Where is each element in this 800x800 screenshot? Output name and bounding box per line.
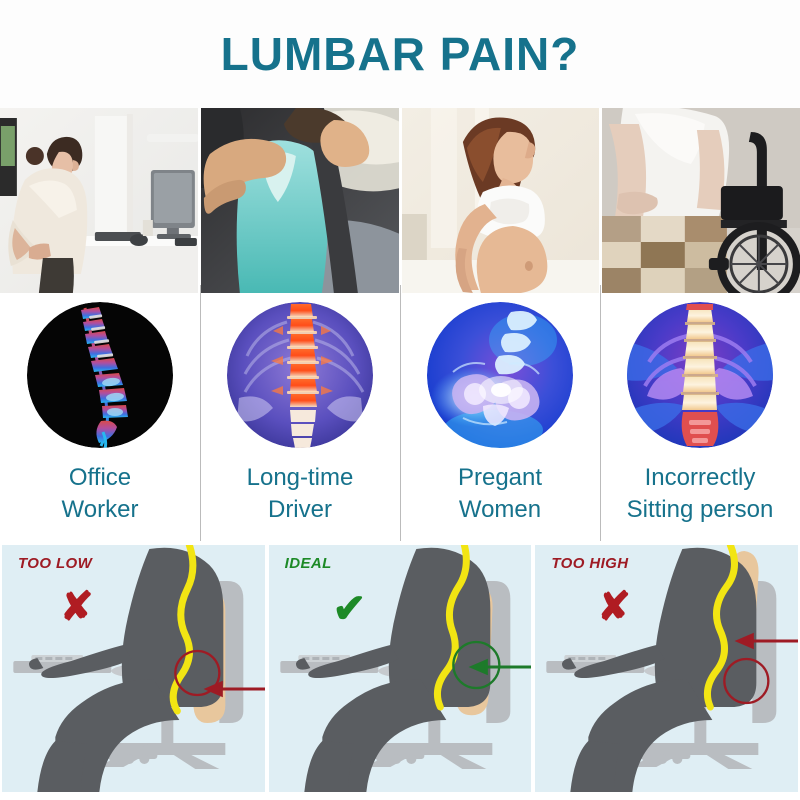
cause-item-office-worker[interactable]: Office Worker xyxy=(0,293,200,543)
office-worker-photo xyxy=(0,108,198,293)
pelvis-glow-xray-icon xyxy=(427,302,573,448)
cause-label-line2: Sitting person xyxy=(627,494,774,526)
cross-mark-icon: ✘ xyxy=(597,587,631,627)
long-time-driver-photo xyxy=(201,108,399,293)
posture-caption-too-high: TOO HIGH xyxy=(551,555,628,572)
wheelchair-person-photo xyxy=(602,108,800,293)
cause-label-line2: Women xyxy=(458,494,542,526)
photo-strip xyxy=(0,108,800,293)
cause-label-incorrectly-sitting-person: Incorrectly Sitting person xyxy=(627,462,774,525)
posture-panel-too-low[interactable]: TOO LOW xyxy=(2,545,265,792)
cause-label-line1: Incorrectly xyxy=(627,462,774,494)
cause-label-office-worker: Office Worker xyxy=(62,462,139,525)
cause-label-long-time-driver: Long-time Driver xyxy=(247,462,354,525)
cross-mark-icon: ✘ xyxy=(60,587,94,627)
cause-label-line1: Pregant xyxy=(458,462,542,494)
causes-section: Office Worker xyxy=(0,293,800,543)
cause-label-pregnant-women: Pregant Women xyxy=(458,462,542,525)
pregnant-woman-photo xyxy=(402,108,600,293)
page-header: LUMBAR PAIN? xyxy=(0,0,800,108)
posture-caption-ideal: IDEAL xyxy=(285,555,332,572)
posture-panel-ideal[interactable]: IDEAL xyxy=(269,545,532,792)
spine-lateral-xray-icon xyxy=(27,302,173,448)
lumbar-frontal-xray-icon xyxy=(627,302,773,448)
cause-item-incorrectly-sitting-person[interactable]: Incorrectly Sitting person xyxy=(600,293,800,543)
page-title: LUMBAR PAIN? xyxy=(221,27,580,81)
cause-item-long-time-driver[interactable]: Long-time Driver xyxy=(200,293,400,543)
cause-label-line1: Office xyxy=(62,462,139,494)
cause-item-pregnant-women[interactable]: Pregant Women xyxy=(400,293,600,543)
cause-label-line2: Worker xyxy=(62,494,139,526)
posture-comparison-section: TOO LOW xyxy=(0,543,800,792)
spine-inflamed-xray-icon xyxy=(227,302,373,448)
check-mark-icon: ✔ xyxy=(333,589,367,629)
cause-label-line2: Driver xyxy=(247,494,354,526)
cause-label-line1: Long-time xyxy=(247,462,354,494)
posture-panel-too-high[interactable]: TOO HIGH xyxy=(535,545,798,792)
posture-caption-too-low: TOO LOW xyxy=(18,555,92,572)
